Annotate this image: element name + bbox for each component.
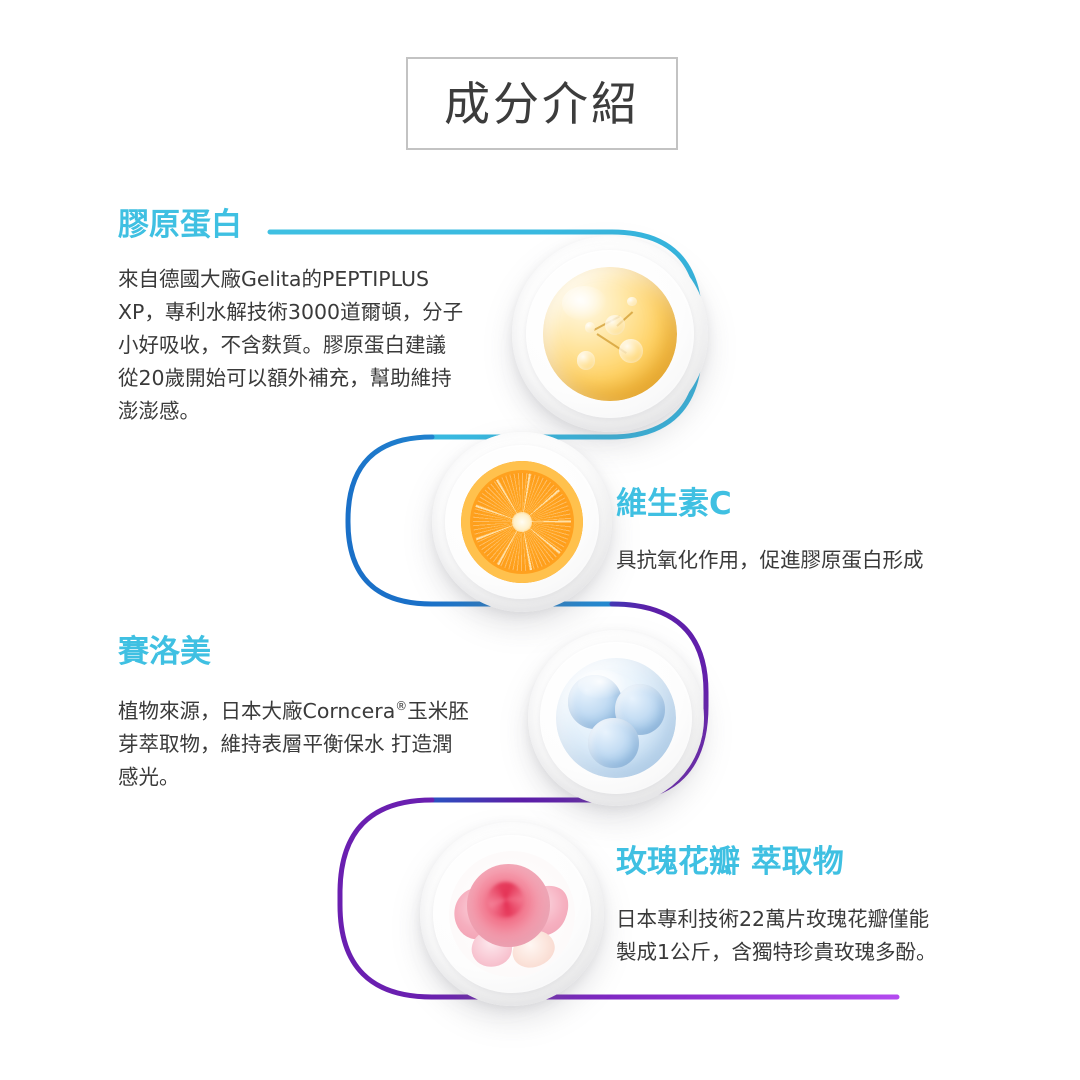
body-line: 感光。 (118, 761, 538, 794)
oil-bubble (577, 351, 596, 370)
infographic-canvas: 成分介紹 (0, 0, 1080, 1080)
section-body-rose-petal-extract: 日本專利技術22萬片玫瑰花瓣僅能 製成1公斤，含獨特珍貴玫瑰多酚。 (616, 903, 1036, 969)
rose-icon (449, 851, 574, 976)
rose-bloom (467, 864, 550, 947)
body-line: 植物來源，日本大廠Corncera®玉米胚 (118, 690, 538, 728)
plate-content (556, 658, 676, 778)
plate-content (543, 267, 676, 400)
body-line: 日本專利技術22萬片玫瑰花瓣僅能 (616, 903, 1036, 936)
oil-bubble (619, 339, 643, 363)
section-body-collagen: 來自德國大廠Gelita的PEPTIPLUS XP，專利水解技術3000道爾頓，… (118, 263, 518, 428)
oil-specular-highlight (562, 286, 607, 321)
section-heading-ceramide: 賽洛美 (118, 637, 211, 668)
section-body-ceramide: 植物來源，日本大廠Corncera®玉米胚 芽萃取物，維持表層平衡保水 打造潤 … (118, 690, 538, 794)
ceramide-bubble-icon (556, 658, 676, 778)
body-line: 來自德國大廠Gelita的PEPTIPLUS (118, 263, 518, 296)
section-heading-collagen: 膠原蛋白 (118, 210, 242, 241)
plate-content (461, 461, 583, 583)
orange-slice-icon (461, 461, 583, 583)
body-line: 製成1公斤，含獨特珍貴玫瑰多酚。 (616, 936, 1036, 969)
body-line: 具抗氧化作用，促進膠原蛋白形成 (616, 544, 1036, 577)
body-line: XP，專利水解技術3000道爾頓，分子 (118, 296, 518, 329)
body-line: 小好吸收，不含麩質。膠原蛋白建議 (118, 329, 518, 362)
orange-slice-image (432, 432, 612, 612)
plate-content (449, 851, 574, 976)
section-body-vitamin-c: 具抗氧化作用，促進膠原蛋白形成 (616, 544, 1036, 577)
section-heading-vitamin-c: 維生素C (616, 489, 732, 520)
bubble-highlight (578, 670, 626, 699)
oil-bubble (605, 315, 625, 335)
orange-peel (461, 461, 583, 583)
body-line: 從20歲開始可以額外補充，幫助維持 (118, 362, 518, 395)
rose-center-swirl (488, 882, 523, 917)
body-line: 澎澎感。 (118, 395, 518, 428)
body-line: 芽萃取物，維持表層平衡保水 打造潤 (118, 728, 538, 761)
collagen-oil-droplet-image (512, 236, 708, 432)
ceramide-sphere (588, 718, 638, 768)
oil-droplet-icon (543, 267, 676, 400)
oil-bubble (585, 322, 596, 333)
oil-bubble (627, 297, 636, 306)
ceramide-blue-spheres-image (528, 630, 704, 806)
rose-flower-image (420, 822, 604, 1006)
section-heading-rose-petal-extract: 玫瑰花瓣 萃取物 (616, 847, 844, 878)
